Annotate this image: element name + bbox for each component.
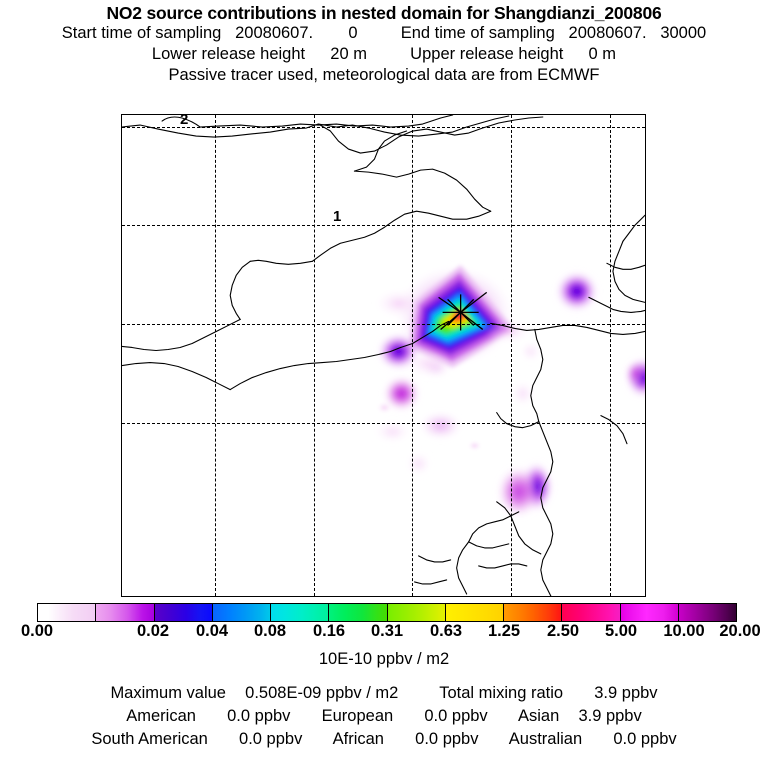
lower-release-value: 20 m	[330, 45, 367, 63]
sampling-time-line: Start time of sampling 20080607. 0 End t…	[0, 23, 768, 44]
region-label-australian: Australian	[509, 730, 582, 748]
colorbar-tick-7: 1.25	[488, 622, 520, 641]
page-title: NO2 source contributions in nested domai…	[0, 3, 768, 23]
region-value-australian: 0.0 ppbv	[613, 730, 676, 748]
lower-release-label: Lower release height	[152, 45, 305, 63]
colorbar-segment-7	[388, 604, 446, 621]
colorbar-tick-5: 0.31	[371, 622, 403, 641]
region-label-south-american: South American	[91, 730, 207, 748]
footer-line-max: Maximum value 0.508E-09 ppbv / m2 Total …	[0, 682, 768, 705]
map-plot-panel: 2 1	[121, 114, 646, 597]
region-value-european: 0.0 ppbv	[424, 707, 487, 725]
region-label-asian: Asian	[518, 707, 559, 725]
colorbar-tick-8: 2.50	[547, 622, 579, 641]
colorbar-segment-1	[38, 604, 96, 621]
end-time-label: End time of sampling	[401, 24, 555, 42]
total-mixing-value: 3.9 ppbv	[594, 684, 657, 702]
colorbar-segment-8	[446, 604, 504, 621]
colorbar-tick-4: 0.16	[313, 622, 345, 641]
maximum-value-label: Maximum value	[110, 684, 226, 702]
colorbar-segment-10	[562, 604, 620, 621]
colorbar-tick-3: 0.08	[254, 622, 286, 641]
start-time-label: Start time of sampling	[62, 24, 222, 42]
colorbar-segment-5	[271, 604, 329, 621]
region-value-south-american: 0.0 ppbv	[239, 730, 302, 748]
colorbar	[37, 603, 737, 622]
colorbar-tick-6: 0.63	[430, 622, 462, 641]
release-height-line: Lower release height 20 m Upper release …	[0, 44, 768, 65]
region-label-european: European	[322, 707, 394, 725]
start-time-value: 0	[348, 24, 357, 42]
release-site-star-icon	[122, 115, 645, 596]
maximum-value: 0.508E-09 ppbv / m2	[245, 684, 398, 702]
summary-footer: Maximum value 0.508E-09 ppbv / m2 Total …	[0, 682, 768, 751]
start-date-value: 20080607.	[235, 24, 313, 42]
region-label-african: African	[333, 730, 384, 748]
tracer-note: Passive tracer used, meteorological data…	[0, 65, 768, 86]
footer-row-1: American 0.0 ppbv European 0.0 ppbv Asia…	[0, 705, 768, 728]
colorbar-segment-4	[213, 604, 271, 621]
footer-row-2: South American 0.0 ppbv African 0.0 ppbv…	[0, 728, 768, 751]
total-mixing-label: Total mixing ratio	[439, 684, 563, 702]
region-label-american: American	[126, 707, 196, 725]
colorbar-segment-3	[155, 604, 213, 621]
colorbar-segment-9	[504, 604, 562, 621]
colorbar-unit-label: 10E-10 ppbv / m2	[0, 650, 768, 669]
upper-release-value: 0 m	[589, 45, 617, 63]
colorbar-segment-12	[679, 604, 736, 621]
map-canvas: 2 1	[122, 115, 645, 596]
end-time-value: 30000	[660, 24, 706, 42]
colorbar-tick-10: 10.00	[663, 622, 704, 641]
colorbar-segment-2	[96, 604, 154, 621]
colorbar-gradient-strip	[37, 603, 737, 622]
upper-release-label: Upper release height	[410, 45, 563, 63]
colorbar-tick-9: 5.00	[605, 622, 637, 641]
region-value-american: 0.0 ppbv	[227, 707, 290, 725]
colorbar-tick-labels: 0.00 0.02 0.04 0.08 0.16 0.31 0.63 1.25 …	[0, 622, 768, 642]
colorbar-segment-11	[621, 604, 679, 621]
colorbar-tick-1: 0.02	[137, 622, 169, 641]
colorbar-tick-11: 20.00	[719, 622, 760, 641]
colorbar-tick-2: 0.04	[196, 622, 228, 641]
end-date-value: 20080607.	[569, 24, 647, 42]
colorbar-segment-6	[329, 604, 387, 621]
region-value-african: 0.0 ppbv	[415, 730, 478, 748]
region-value-asian: 3.9 ppbv	[578, 707, 641, 725]
header: NO2 source contributions in nested domai…	[0, 0, 768, 86]
colorbar-tick-0: 0.00	[21, 622, 53, 641]
